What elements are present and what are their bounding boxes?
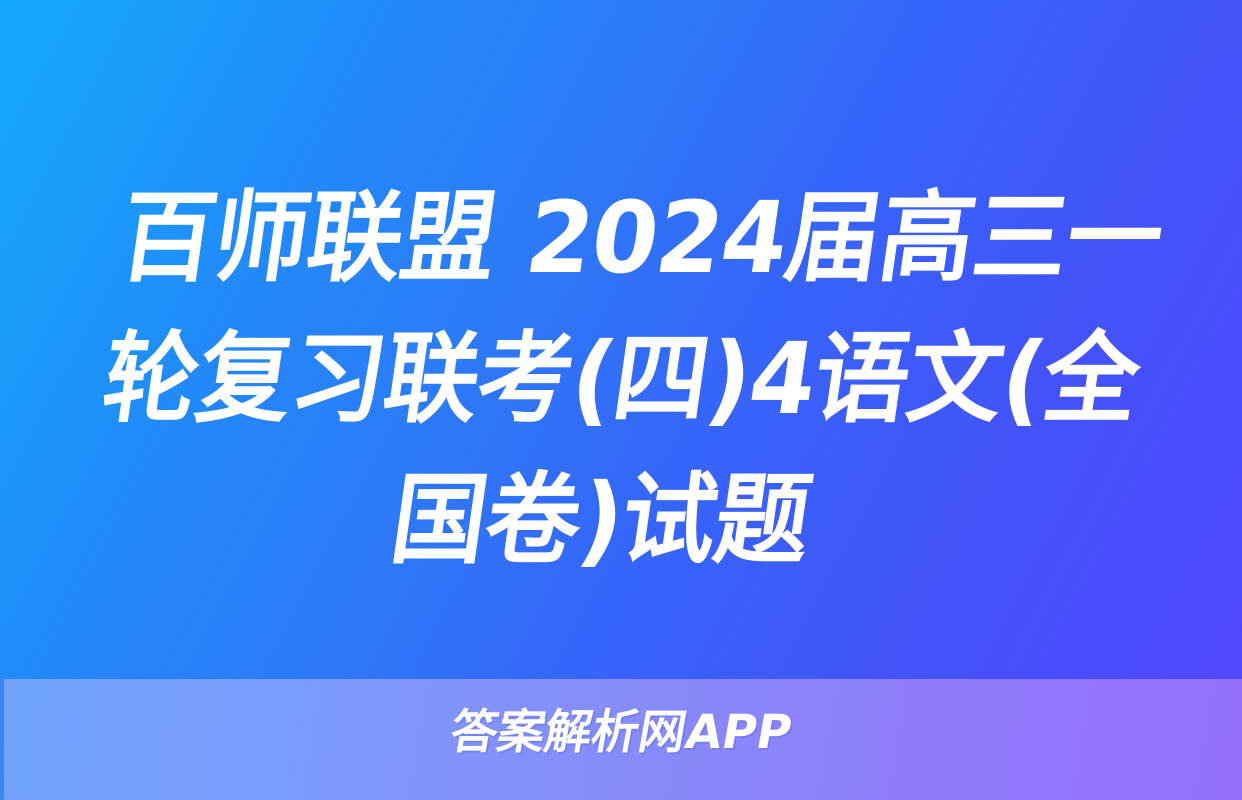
poster-canvas: 百师联盟 2024届高三一轮复习联考(四)4语文(全国卷)试题 答案解析网APP [0, 0, 1242, 800]
page-title: 百师联盟 2024届高三一轮复习联考(四)4语文(全国卷)试题 [0, 168, 1242, 591]
watermark-brand: 答案解析网APP [0, 703, 1242, 763]
